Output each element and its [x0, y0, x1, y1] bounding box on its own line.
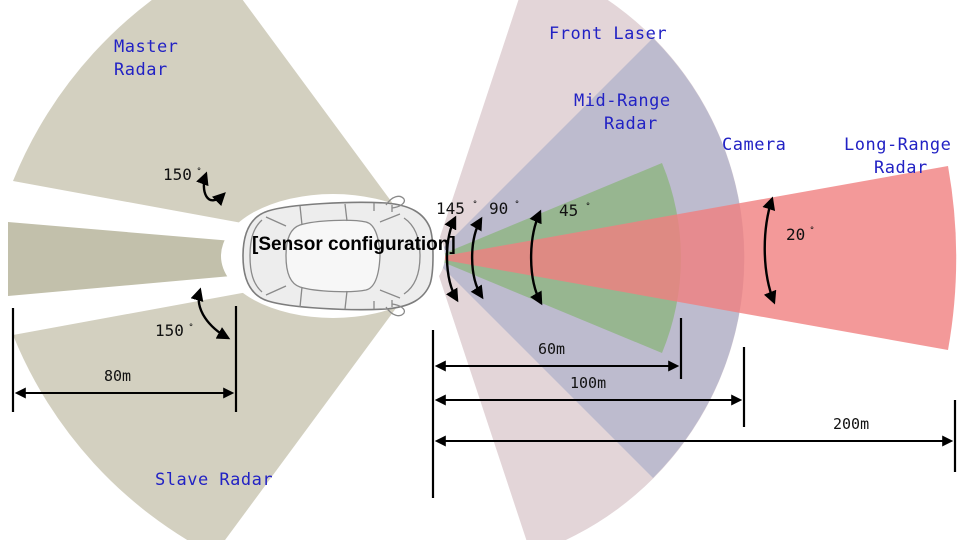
- host-vehicle: [Sensor configuration]: [221, 194, 456, 318]
- label-camera: Camera: [722, 135, 786, 155]
- dim-100m-label: 100m: [570, 374, 606, 392]
- degree-symbol-slave: ˚: [188, 323, 194, 335]
- angle-value-camera: 45: [559, 201, 578, 220]
- label-mid-range-radar-line2: Radar: [604, 114, 658, 134]
- car-roof-panel: [286, 220, 380, 291]
- label-front-laser: Front Laser: [549, 24, 667, 44]
- degree-symbol-camera: ˚: [585, 202, 591, 214]
- angle-value-lrr: 20: [786, 225, 805, 244]
- label-mid-range-radar-line1: Mid-Range: [574, 91, 671, 111]
- angle-value-slave: 150: [155, 321, 184, 340]
- degree-symbol-lrr: ˚: [809, 226, 815, 238]
- dim-60m-label: 60m: [538, 340, 565, 358]
- dim-80m-label: 80m: [104, 367, 131, 385]
- angle-value-midrange: 90: [489, 199, 508, 218]
- label-master-radar-line1: Master: [114, 37, 178, 57]
- label-master-radar-line2: Radar: [114, 60, 168, 80]
- angle-value-master: 150: [163, 165, 192, 184]
- sensor-configuration-diagram: [Sensor configuration] 150 ˚ 150 ˚ 145 ˚: [0, 0, 980, 540]
- label-long-range-radar-line1: Long-Range: [844, 135, 951, 155]
- degree-symbol-midrange: ˚: [514, 200, 520, 212]
- diagram-canvas: [Sensor configuration] 150 ˚ 150 ˚ 145 ˚: [0, 0, 980, 540]
- vehicle-caption-line1: [Sensor configuration]: [252, 234, 456, 255]
- degree-symbol-laser: ˚: [472, 200, 478, 212]
- front-sensor-coverage-group: [433, 0, 956, 540]
- label-slave-radar: Slave Radar: [155, 470, 273, 490]
- dim-200m-label: 200m: [833, 415, 869, 433]
- degree-symbol-master: ˚: [196, 167, 202, 179]
- angle-value-laser: 145: [436, 199, 465, 218]
- label-long-range-radar-line2: Radar: [874, 158, 928, 178]
